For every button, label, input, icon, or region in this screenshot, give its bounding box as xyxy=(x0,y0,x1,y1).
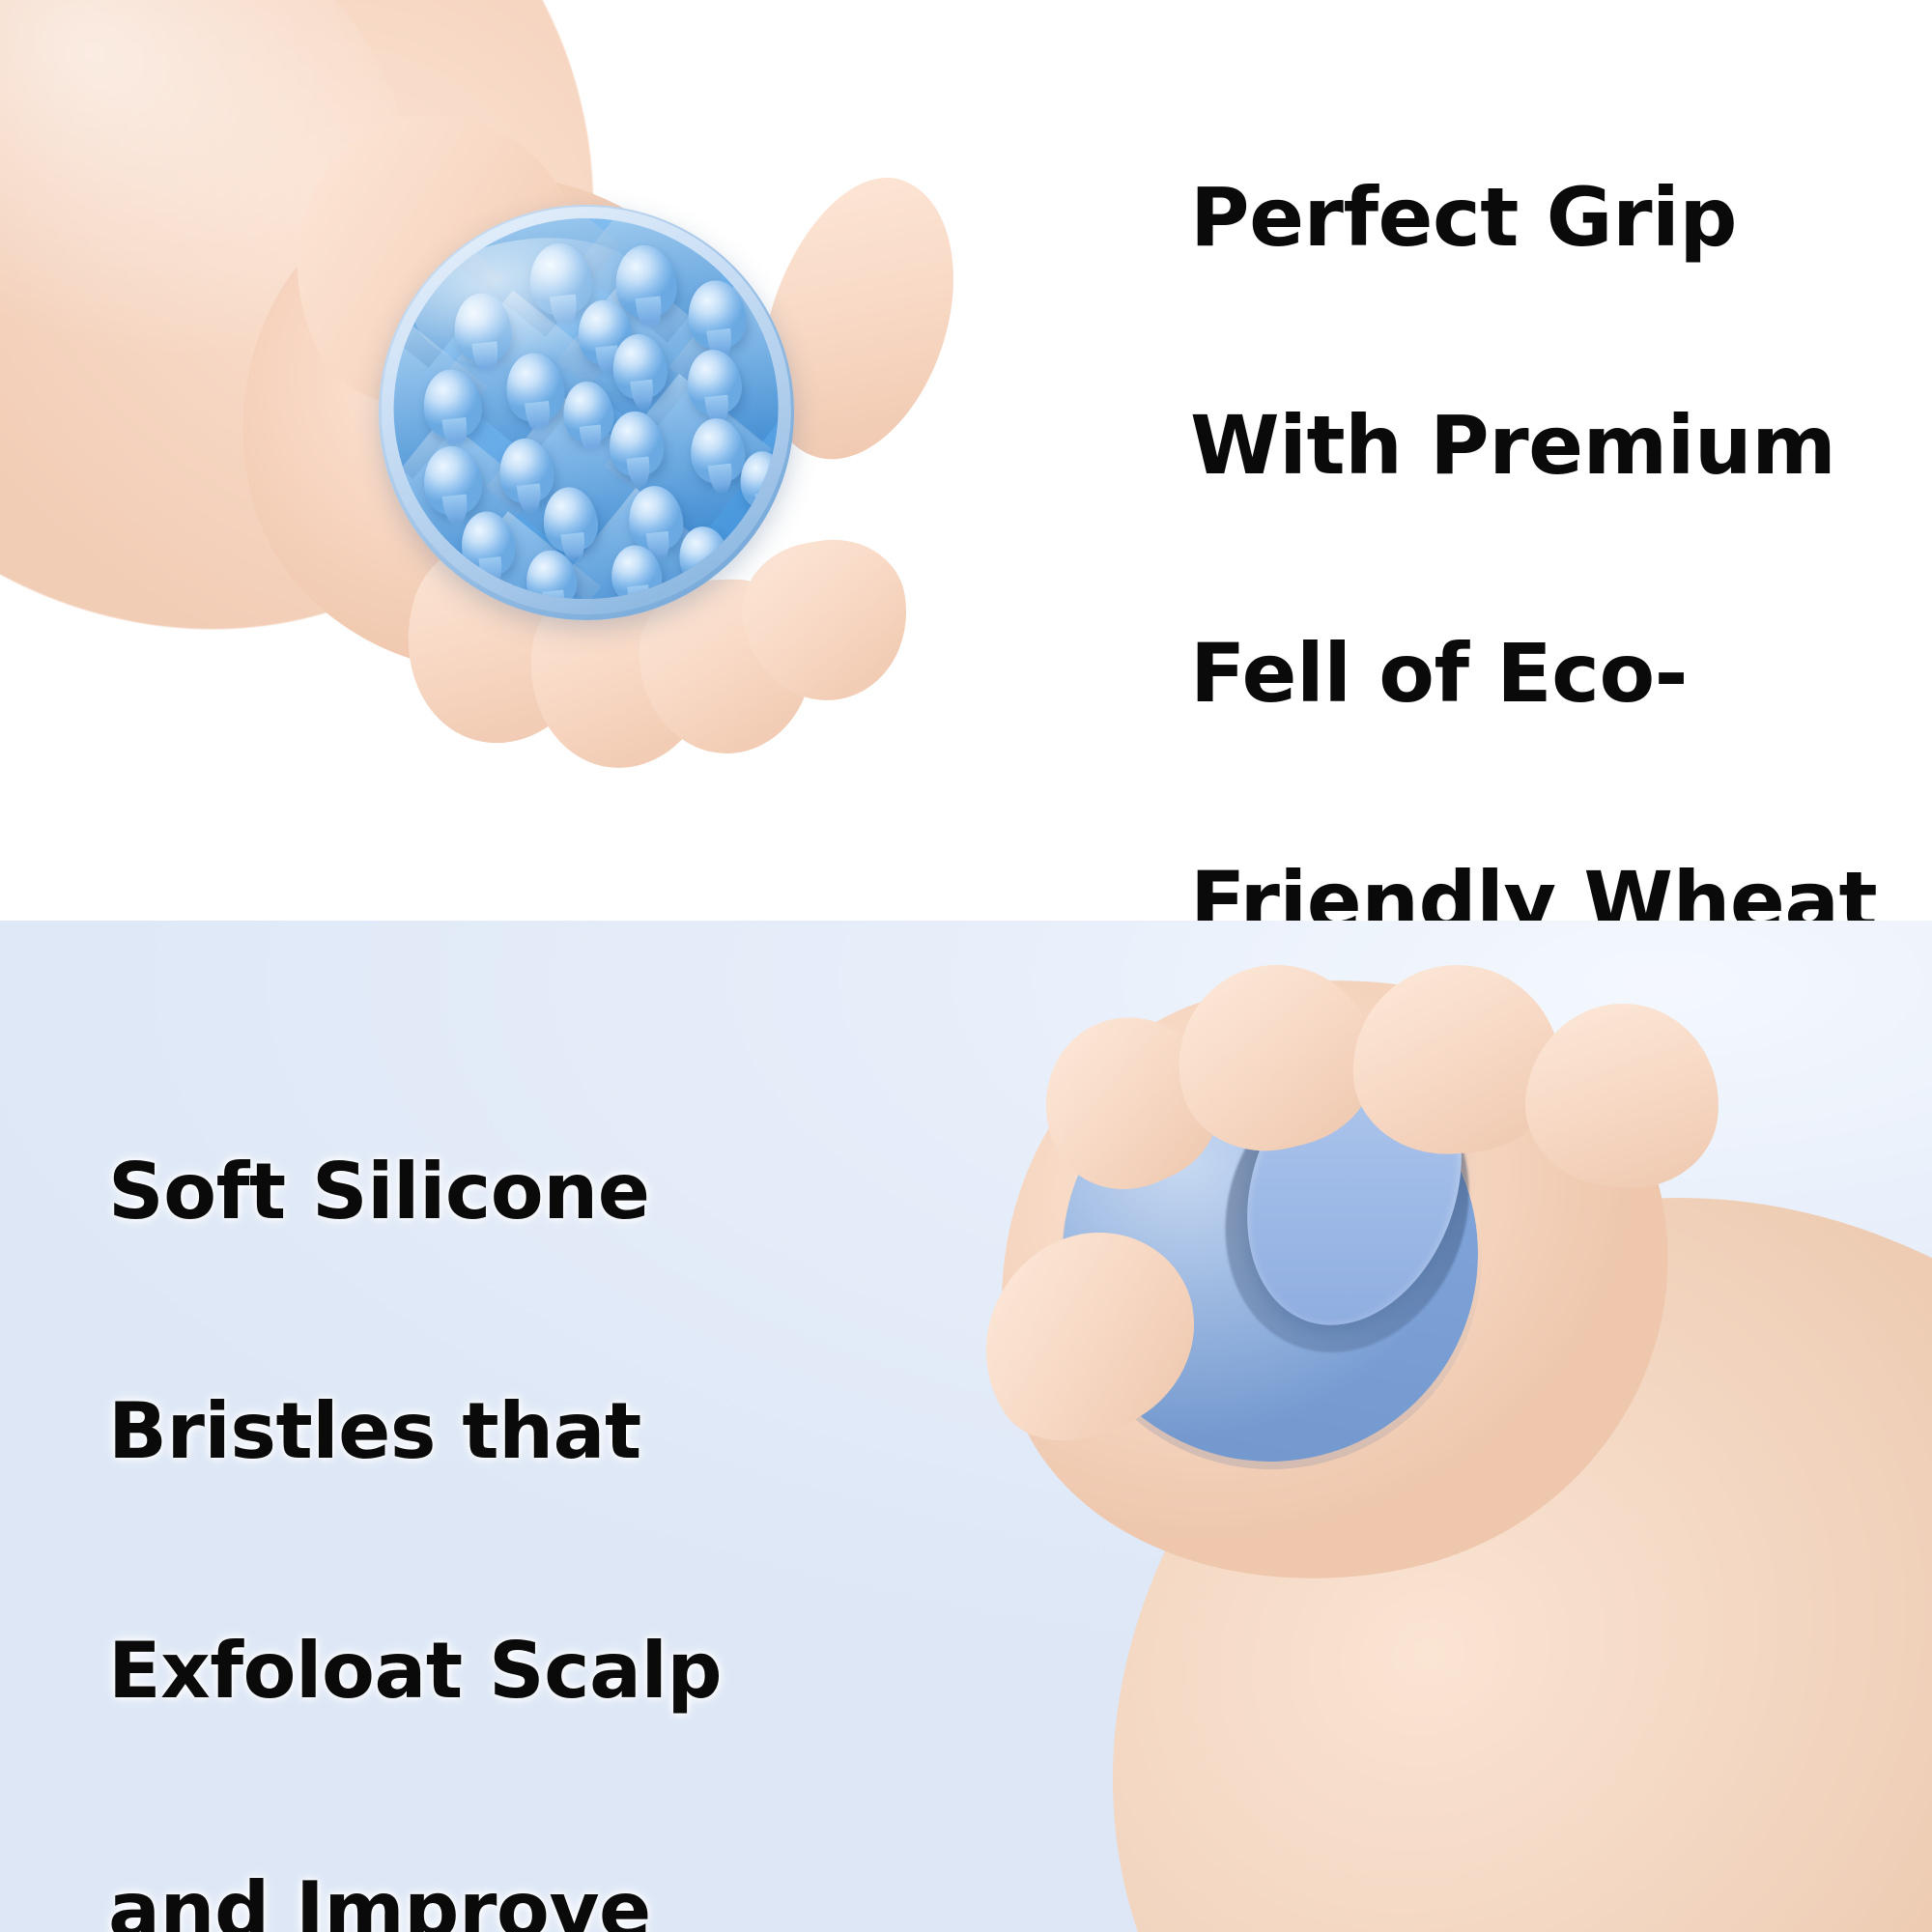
perfect-grip-panel: Perfect Grip With Premium Fell of Eco- F… xyxy=(0,0,1932,921)
headline-line: Exfoloat Scalp xyxy=(108,1611,842,1731)
headline-line: With Premium xyxy=(1190,388,1905,502)
headline-line: Soft Silicone xyxy=(108,1132,842,1252)
headline-line: Perfect Grip xyxy=(1190,160,1905,274)
brush-bristle-face xyxy=(375,199,797,617)
product-feature-collage: Perfect Grip With Premium Fell of Eco- F… xyxy=(0,0,1932,1932)
headline-line: and Improve xyxy=(108,1851,842,1932)
headline-line: Bristles that xyxy=(108,1372,842,1492)
headline-line: Fell of Eco- xyxy=(1190,616,1905,730)
scalp-brush-bristle-side xyxy=(358,185,815,641)
headline-line: Friendly Wheat xyxy=(1190,844,1905,921)
perfect-grip-headline: Perfect Grip With Premium Fell of Eco- F… xyxy=(1190,46,1905,921)
soft-silicone-headline: Soft Silicone Bristles that Exfoloat Sca… xyxy=(108,1012,842,1932)
